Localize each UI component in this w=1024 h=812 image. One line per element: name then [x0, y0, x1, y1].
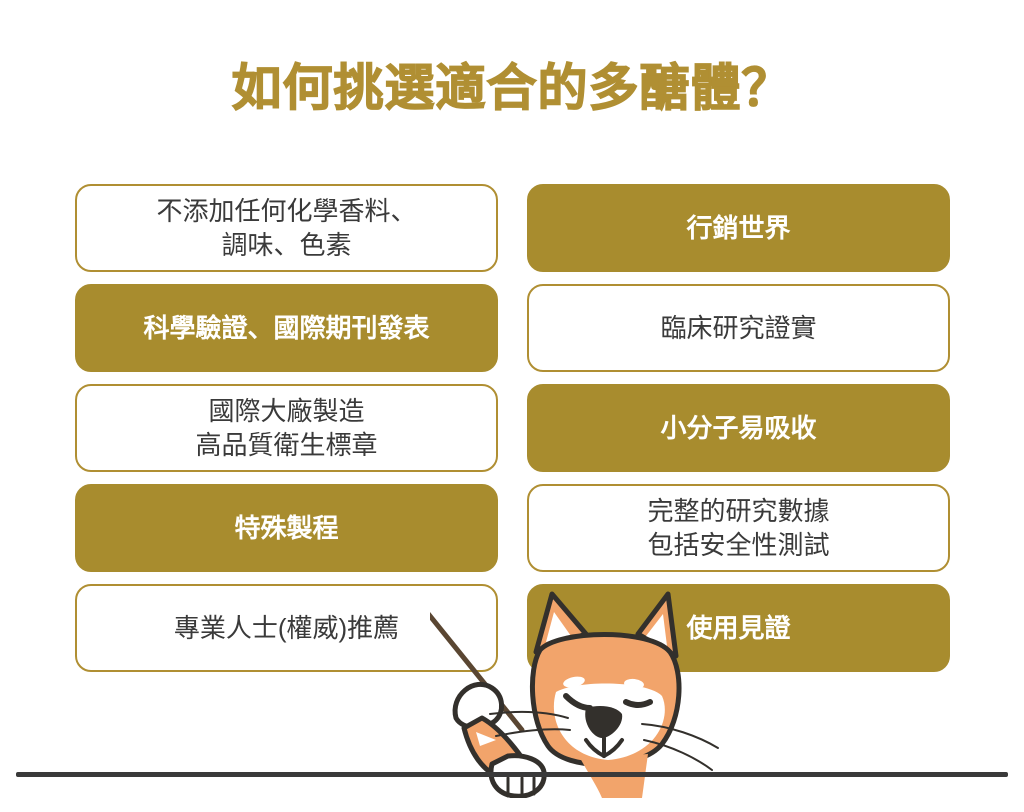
- dog-whisker-right-1: [642, 724, 718, 748]
- card-left-2-label: 科學驗證、國際期刊發表: [143, 311, 429, 345]
- card-right-2[interactable]: 臨床研究證實: [527, 284, 950, 372]
- card-right-1[interactable]: 行銷世界: [527, 184, 950, 272]
- dog-nose: [585, 706, 622, 738]
- card-right-4[interactable]: 完整的研究數據 包括安全性測試: [527, 484, 950, 572]
- dog-whisker-right-2: [644, 740, 712, 770]
- card-left-4-label: 特殊製程: [234, 511, 338, 545]
- card-left-5-label: 專業人士(權威)推薦: [174, 611, 399, 645]
- card-right-1-label: 行銷世界: [686, 211, 790, 245]
- card-left-1-label: 不添加任何化學香料、 調味、色素: [156, 194, 416, 262]
- card-right-5[interactable]: 使用見證: [527, 584, 950, 672]
- baseline-rule: [16, 772, 1008, 777]
- card-right-3-label: 小分子易吸收: [660, 411, 816, 445]
- card-left-5[interactable]: 專業人士(權威)推薦: [75, 584, 498, 672]
- dog-whisker-left-1: [490, 712, 568, 718]
- dog-arm-left: [455, 684, 502, 727]
- card-left-4[interactable]: 特殊製程: [75, 484, 498, 572]
- card-right-5-label: 使用見證: [686, 611, 790, 645]
- card-right-3[interactable]: 小分子易吸收: [527, 384, 950, 472]
- dog-forearm: [464, 718, 534, 778]
- dog-eye-right: [626, 702, 650, 705]
- dog-mouth-right: [604, 740, 622, 756]
- poster-canvas: 如何挑選適合的多醣體？ 不添加任何化學香料、 調味、色素 科學驗證、國際期刊發表…: [0, 0, 1024, 812]
- card-left-2[interactable]: 科學驗證、國際期刊發表: [75, 284, 498, 372]
- card-left-3-label: 國際大廠製造 高品質衛生標章: [195, 394, 377, 462]
- dog-whisker-left-2: [496, 729, 570, 736]
- dog-mouth-left: [586, 740, 604, 756]
- feature-card-grid: 不添加任何化學香料、 調味、色素 科學驗證、國際期刊發表 國際大廠製造 高品質衛…: [75, 184, 950, 664]
- dog-eye-left: [566, 696, 590, 708]
- dog-arm-stripe: [476, 732, 496, 746]
- card-right-2-label: 臨床研究證實: [660, 311, 816, 345]
- card-left-3[interactable]: 國際大廠製造 高品質衛生標章: [75, 384, 498, 472]
- dog-muzzle: [554, 683, 665, 760]
- page-title: 如何挑選適合的多醣體？: [0, 58, 1024, 118]
- left-column: 不添加任何化學香料、 調味、色素 科學驗證、國際期刊發表 國際大廠製造 高品質衛…: [75, 184, 498, 684]
- card-right-4-label: 完整的研究數據 包括安全性測試: [647, 494, 829, 562]
- right-column: 行銷世界 臨床研究證實 小分子易吸收 完整的研究數據 包括安全性測試 使用見證: [527, 184, 950, 684]
- card-left-1[interactable]: 不添加任何化學香料、 調味、色素: [75, 184, 498, 272]
